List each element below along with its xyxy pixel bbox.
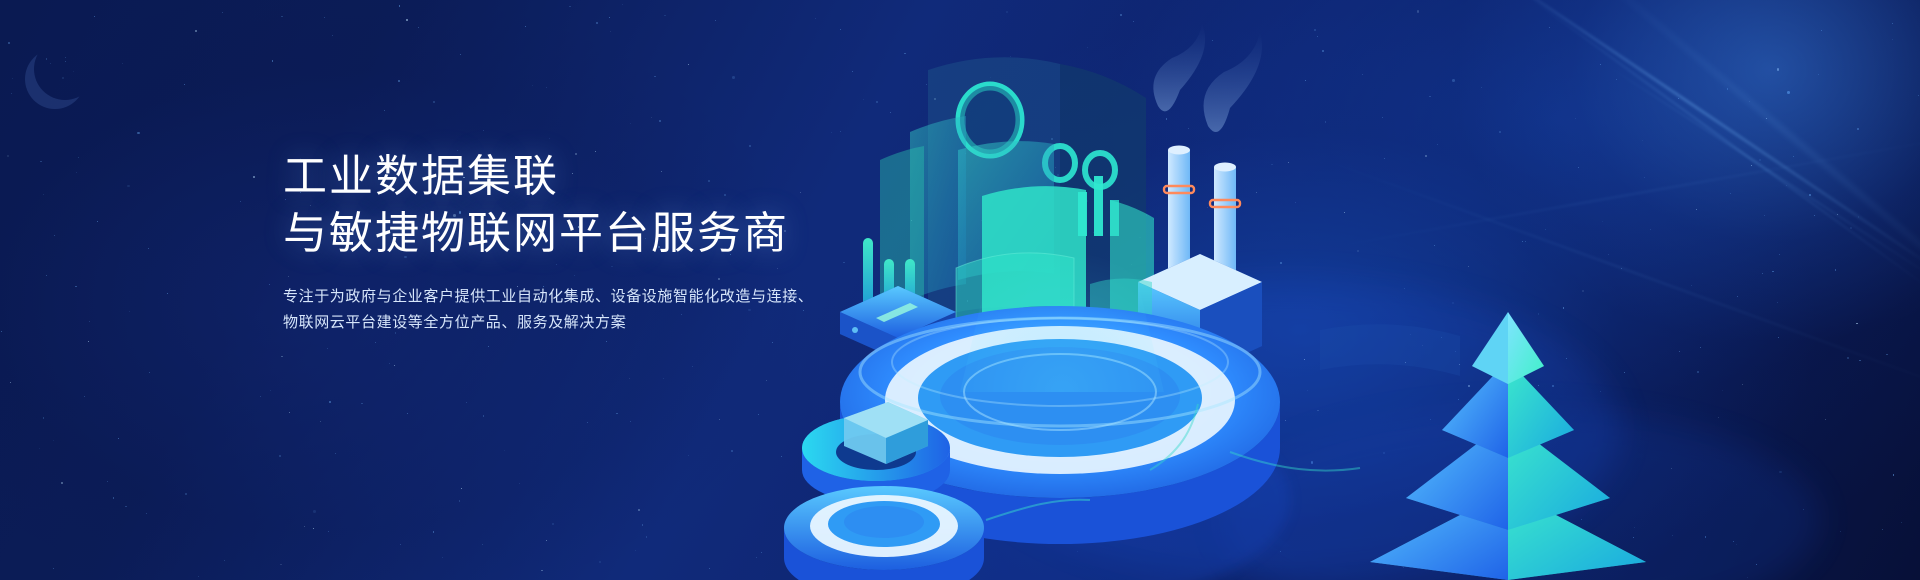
star [688, 455, 689, 456]
star [269, 284, 270, 285]
star [272, 60, 273, 61]
star [651, 117, 652, 118]
star [107, 481, 108, 482]
star [609, 17, 610, 18]
star [184, 84, 185, 85]
star [654, 76, 655, 77]
star [630, 123, 631, 124]
star [587, 422, 588, 423]
star [54, 235, 55, 236]
star [46, 275, 47, 276]
moon-crescent [34, 38, 96, 100]
star [73, 71, 74, 72]
star [335, 453, 336, 454]
star [62, 77, 64, 79]
star [418, 27, 419, 28]
star [541, 570, 542, 571]
star [127, 185, 130, 188]
star [332, 35, 333, 36]
star [692, 366, 693, 367]
star [394, 365, 395, 366]
hero-subcopy-line-1: 专注于为政府与企业客户提供工业自动化集成、设备设施智能化改造与连接、 [283, 284, 903, 310]
star [149, 372, 150, 373]
star [525, 26, 526, 27]
star [504, 450, 505, 451]
star [664, 15, 665, 16]
star [185, 493, 187, 495]
star [361, 403, 362, 404]
star [756, 557, 757, 558]
star [466, 402, 467, 403]
star [488, 346, 489, 347]
star [635, 550, 636, 551]
star [118, 438, 119, 439]
star [629, 378, 630, 379]
star [129, 311, 130, 312]
star [65, 57, 66, 58]
star [483, 415, 484, 416]
star [324, 17, 325, 18]
star [398, 80, 400, 82]
star [327, 348, 328, 349]
star [222, 12, 223, 13]
star [715, 20, 716, 21]
star [482, 544, 483, 545]
hero-copy: 工业数据集联 与敏捷物联网平台服务商 专注于为政府与企业客户提供工业自动化集成、… [283, 148, 903, 336]
smoke-plume [1204, 32, 1262, 132]
star [224, 560, 225, 561]
star [329, 401, 331, 403]
star [84, 396, 85, 397]
star [616, 413, 617, 414]
star [75, 286, 76, 287]
star [596, 22, 598, 24]
page-title-line-2: 与敏捷物联网平台服务商 [283, 205, 903, 262]
star [260, 396, 261, 397]
star [328, 531, 329, 532]
star [148, 248, 149, 249]
star [53, 568, 54, 569]
star [12, 78, 13, 79]
star [122, 63, 123, 64]
star [78, 157, 79, 158]
star [289, 412, 290, 413]
star [731, 450, 733, 452]
star [459, 500, 460, 501]
star [749, 145, 751, 147]
star [483, 130, 484, 131]
star [532, 85, 533, 86]
star [97, 221, 98, 222]
hero-banner: 工业数据集联 与敏捷物联网平台服务商 专注于为政府与企业客户提供工业自动化集成、… [0, 0, 1920, 580]
star [281, 16, 282, 17]
star [549, 138, 550, 139]
star [240, 201, 241, 202]
star [606, 341, 607, 342]
star [88, 341, 89, 342]
star [280, 564, 281, 565]
star [313, 510, 316, 513]
star [65, 61, 66, 62]
star [638, 509, 640, 511]
star [546, 87, 547, 88]
star [53, 440, 54, 441]
star [406, 19, 408, 21]
star [76, 172, 77, 173]
star [279, 455, 281, 457]
star [642, 524, 643, 525]
star [7, 155, 9, 157]
star [43, 194, 44, 195]
star [137, 132, 140, 135]
star [89, 321, 90, 322]
smoke-plume [1153, 24, 1205, 111]
star [94, 16, 95, 17]
star [732, 76, 735, 79]
star [40, 161, 41, 162]
star [198, 576, 199, 577]
star [195, 30, 197, 32]
star [11, 93, 12, 94]
star [125, 506, 126, 507]
star [8, 42, 10, 44]
star [646, 536, 647, 537]
star [39, 448, 40, 449]
star [569, 6, 570, 7]
star [113, 497, 114, 498]
star [460, 54, 461, 55]
star [384, 110, 385, 111]
star [313, 528, 314, 529]
star [400, 544, 401, 545]
star [519, 483, 520, 484]
star [610, 31, 611, 32]
star [442, 557, 443, 558]
star [552, 523, 554, 525]
star [433, 531, 434, 532]
hero-illustration [760, 0, 1920, 580]
star [43, 417, 44, 418]
star [320, 421, 321, 422]
star [599, 561, 601, 563]
star [630, 421, 631, 422]
star [399, 5, 400, 6]
star [1, 331, 2, 332]
star [719, 419, 720, 420]
star [281, 356, 282, 357]
star [407, 413, 408, 414]
star [146, 513, 147, 514]
star [61, 482, 63, 484]
star [622, 4, 623, 5]
hero-subcopy-line-2: 物联网云平台建设等全方位产品、服务及解决方案 [283, 310, 903, 336]
star [546, 540, 547, 541]
star [659, 120, 661, 122]
star [663, 378, 664, 379]
star [433, 101, 435, 103]
star [389, 363, 390, 364]
page-title-line-1: 工业数据集联 [283, 148, 903, 205]
star [709, 568, 710, 569]
star [167, 293, 168, 294]
star [304, 526, 305, 527]
star [50, 63, 51, 64]
small-disc [784, 486, 984, 580]
star [253, 176, 255, 178]
star [270, 390, 271, 391]
star [46, 58, 47, 59]
star [375, 342, 376, 343]
star [688, 64, 689, 65]
star [10, 382, 11, 383]
star [461, 488, 462, 489]
